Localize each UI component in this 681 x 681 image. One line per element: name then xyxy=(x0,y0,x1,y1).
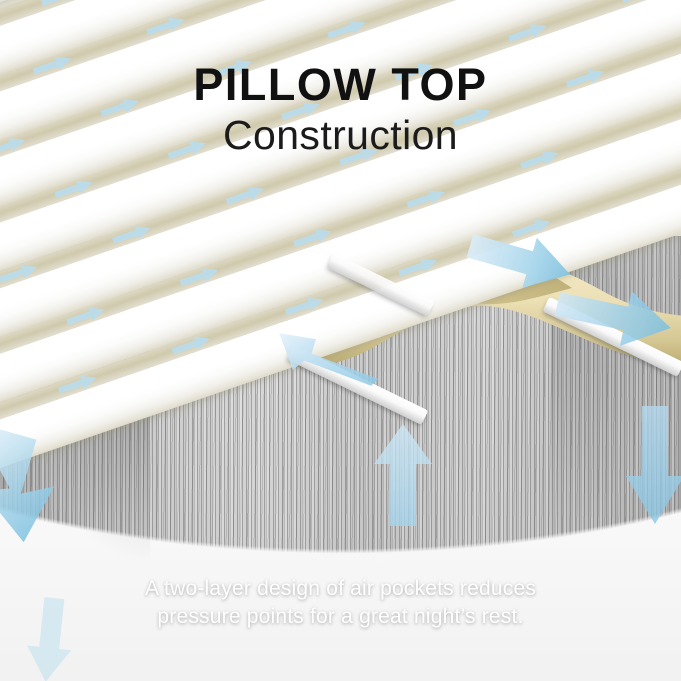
airflow-arrow-core-up-2 xyxy=(374,424,432,526)
airflow-arrow-core-down xyxy=(626,406,681,524)
pillow-top-construction-infographic: PILLOW TOP Construction A two-layer desi… xyxy=(0,0,681,681)
airflow-arrow-bottom-left xyxy=(24,596,77,681)
airflow-arrow-core-up-1 xyxy=(279,321,379,394)
